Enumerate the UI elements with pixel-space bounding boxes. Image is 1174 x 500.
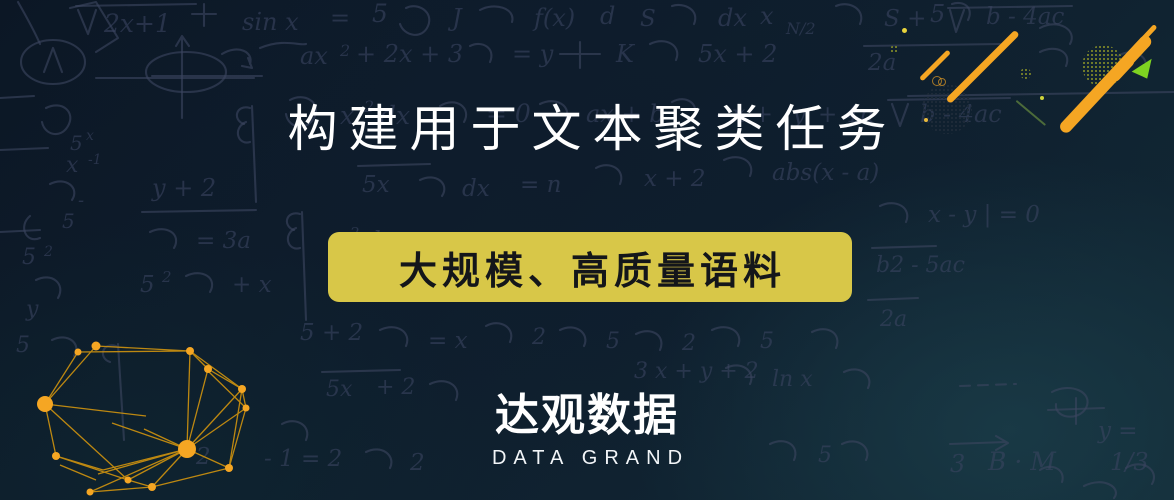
svg-text:b - 4ac: b - 4ac xyxy=(986,4,1064,30)
svg-text:y: y xyxy=(25,297,39,322)
svg-text:dx: dx xyxy=(462,176,490,202)
halftone-dot-circle xyxy=(890,45,899,54)
svg-text:5: 5 xyxy=(930,0,945,28)
diagonal-accent-bar xyxy=(1108,55,1136,84)
svg-text:5: 5 xyxy=(22,245,36,270)
accent-dot xyxy=(1040,96,1044,100)
svg-text:= x: = x xyxy=(428,328,468,354)
highlight-pill-label: 大规模、高质量语料 xyxy=(394,240,786,295)
accent-dot xyxy=(902,28,907,33)
svg-text:ln x: ln x xyxy=(772,367,813,392)
svg-text:2: 2 xyxy=(161,268,172,286)
svg-text:2: 2 xyxy=(681,331,696,356)
svg-text:ax: ax xyxy=(300,42,328,70)
svg-text:5: 5 xyxy=(606,329,620,354)
svg-text:2x+1: 2x+1 xyxy=(103,9,171,38)
svg-text:5: 5 xyxy=(760,329,774,354)
svg-text:dx: dx xyxy=(718,4,747,32)
logo: 达观数据 DATA GRAND xyxy=(0,392,1174,470)
svg-text:2: 2 xyxy=(531,325,546,350)
svg-text:= 3a: = 3a xyxy=(196,228,251,254)
halftone-dot-circle xyxy=(1082,45,1124,87)
svg-text:d: d xyxy=(600,2,615,30)
svg-text:x + 2: x + 2 xyxy=(644,166,706,192)
svg-text:b2 - 5ac: b2 - 5ac xyxy=(876,253,965,278)
svg-text:f(x): f(x) xyxy=(532,4,575,32)
svg-text:= n: = n xyxy=(520,172,561,198)
svg-text:2a: 2a xyxy=(879,307,907,332)
svg-text:abs(x - a): abs(x - a) xyxy=(772,160,879,186)
svg-text:3 x + y + 2: 3 x + y + 2 xyxy=(634,359,759,384)
svg-text:y + 2: y + 2 xyxy=(151,174,216,202)
svg-text:x - y | = 0: x - y | = 0 xyxy=(928,202,1040,228)
svg-text:5: 5 xyxy=(372,0,388,28)
svg-text:J: J xyxy=(447,4,463,32)
svg-text:x: x xyxy=(66,153,79,178)
svg-text:5: 5 xyxy=(62,209,75,233)
svg-text:S: S xyxy=(640,6,656,32)
svg-text:5x: 5x xyxy=(362,172,390,198)
accent-ring xyxy=(938,78,946,86)
svg-text:2: 2 xyxy=(43,244,53,260)
svg-text:2: 2 xyxy=(339,41,350,60)
svg-text:+ x: + x xyxy=(232,272,272,298)
svg-text:N/2: N/2 xyxy=(785,19,816,38)
svg-text:S +: S + xyxy=(884,6,926,32)
page-title: 构建用于文本聚类任务 xyxy=(0,104,1174,154)
accent-ring xyxy=(932,76,942,86)
halftone-dot-circle xyxy=(1020,68,1031,79)
svg-text:-: - xyxy=(78,190,84,211)
svg-text:5x + 2: 5x + 2 xyxy=(698,40,777,68)
svg-text:=: = xyxy=(330,4,350,32)
svg-text:x: x xyxy=(760,2,774,30)
svg-text:sin x: sin x xyxy=(242,8,299,36)
svg-text:5 + 2: 5 + 2 xyxy=(300,320,363,346)
diagonal-accent-bar xyxy=(919,50,951,82)
svg-text:K: K xyxy=(615,40,636,68)
diagonal-accent-bar xyxy=(946,30,1020,104)
svg-text:-1: -1 xyxy=(88,152,102,168)
diagonal-accent-bar xyxy=(1110,24,1157,74)
logo-name-cn: 达观数据 xyxy=(0,392,1174,440)
svg-text:= y: = y xyxy=(512,40,554,68)
promo-banner: 2x+1 sin x = 5 J f(x) d S dx x N/2 S + 5… xyxy=(0,0,1174,500)
green-triangle xyxy=(1132,53,1156,78)
logo-name-en: DATA GRAND xyxy=(0,446,1174,470)
svg-text:2a: 2a xyxy=(867,50,896,76)
svg-text:+ 2x + 3: + 2x + 3 xyxy=(356,40,463,68)
highlight-pill: 大规模、高质量语料 xyxy=(328,232,852,302)
svg-text:5: 5 xyxy=(140,272,155,298)
